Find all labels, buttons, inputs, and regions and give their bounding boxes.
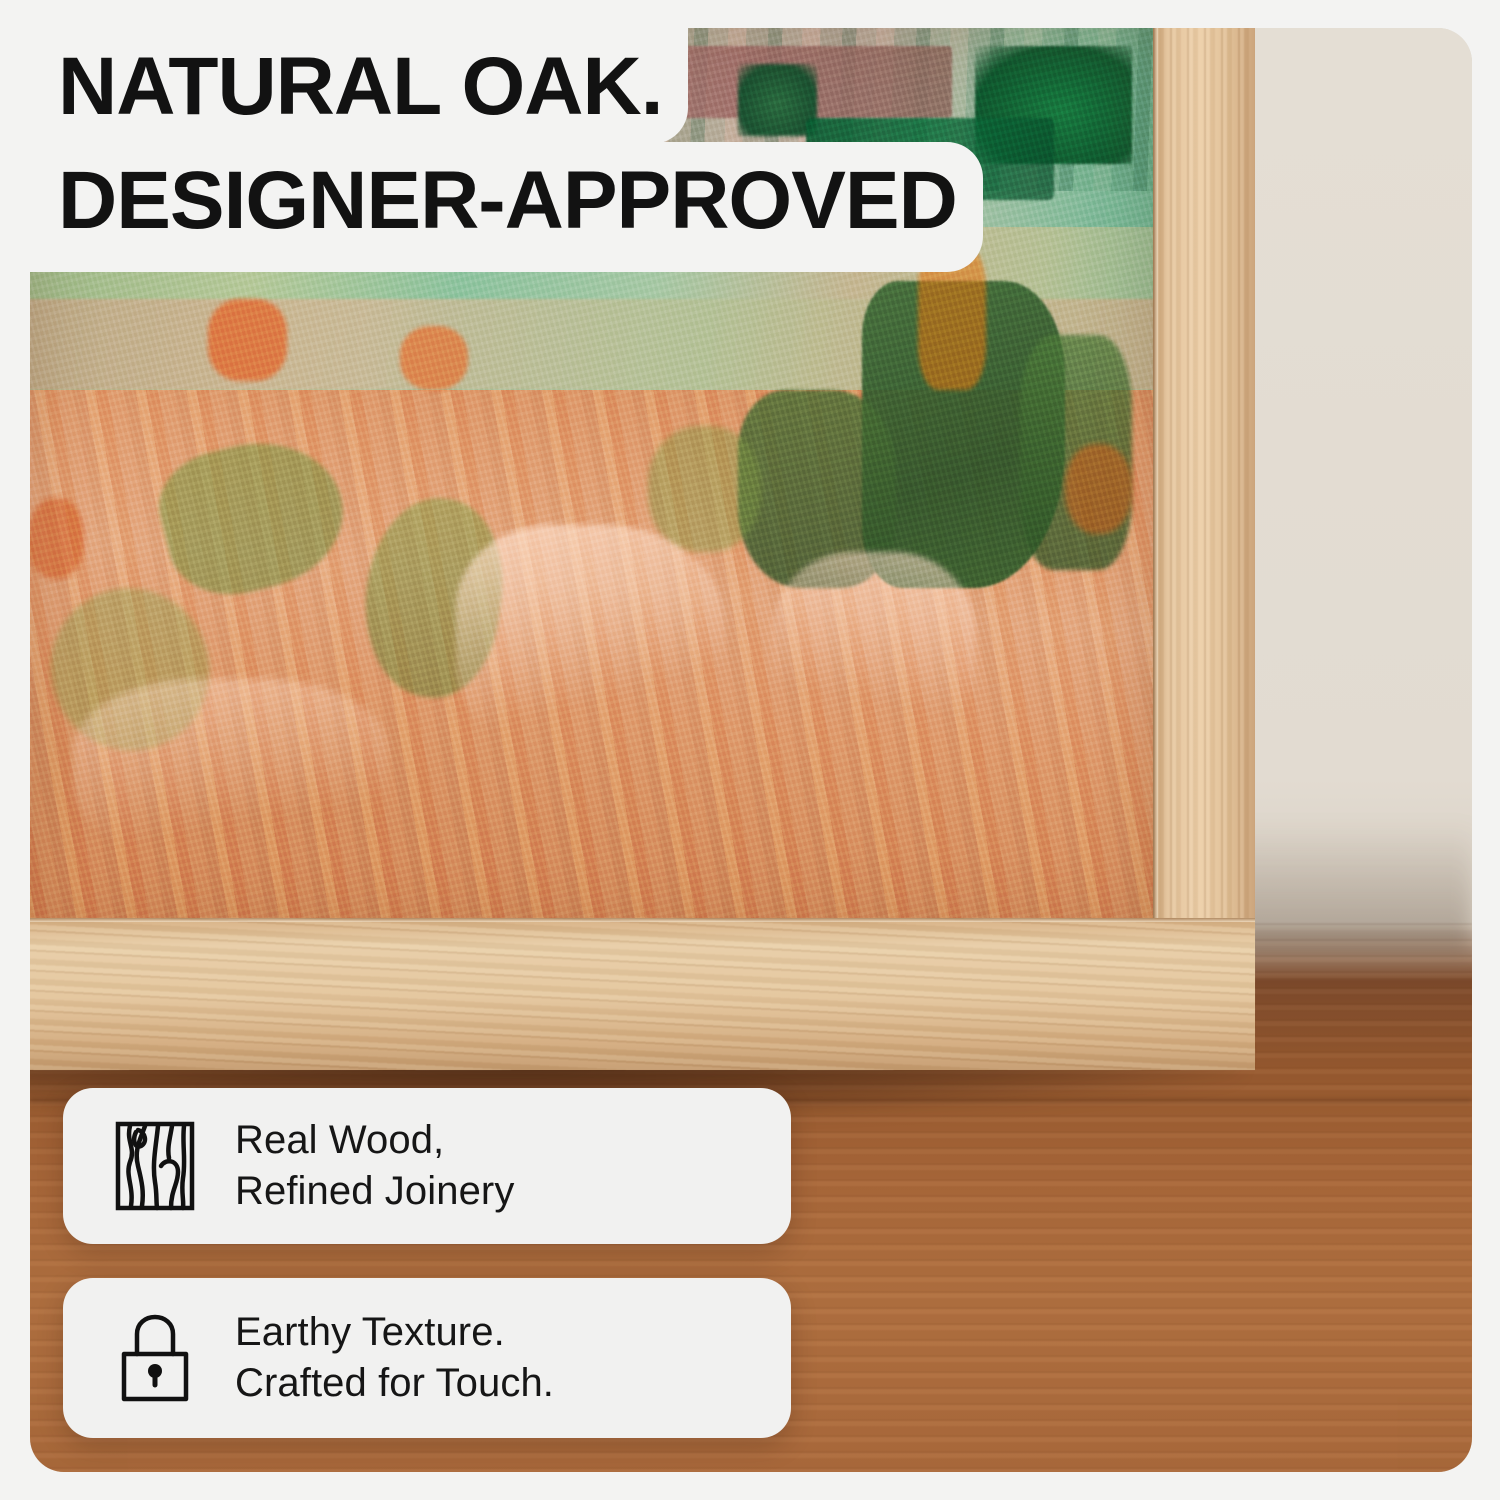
feature-card-text: Real Wood, Refined Joinery xyxy=(235,1115,514,1217)
oak-grain-vertical xyxy=(1153,28,1255,1010)
headline-line-2: DESIGNER-APPROVED xyxy=(0,142,983,272)
feature-line-2: Refined Joinery xyxy=(235,1166,514,1217)
oak-grain-horizontal xyxy=(30,918,1255,1070)
product-marketing-banner: NATURAL OAK. DESIGNER-APPROVED Real Wood… xyxy=(0,0,1500,1500)
feature-card-text: Earthy Texture. Crafted for Touch. xyxy=(235,1307,554,1409)
frame-rail-right xyxy=(1153,28,1255,1010)
wood-grain-icon xyxy=(109,1120,201,1212)
headline: NATURAL OAK. DESIGNER-APPROVED xyxy=(0,0,1060,272)
feature-card-earthy-texture[interactable]: Earthy Texture. Crafted for Touch. xyxy=(63,1278,791,1438)
frame-rail-bottom xyxy=(30,918,1255,1070)
padlock-icon xyxy=(109,1312,201,1404)
frame-mitre-joint xyxy=(1095,880,1255,1070)
frame-inner-edge xyxy=(30,918,1255,922)
feature-card-real-wood[interactable]: Real Wood, Refined Joinery xyxy=(63,1088,791,1244)
feature-line-1: Real Wood, xyxy=(235,1118,444,1162)
feature-line-1: Earthy Texture. xyxy=(235,1310,505,1354)
headline-line-1: NATURAL OAK. xyxy=(0,0,688,144)
frame-inner-edge xyxy=(1153,28,1158,1010)
feature-line-2: Crafted for Touch. xyxy=(235,1358,554,1409)
